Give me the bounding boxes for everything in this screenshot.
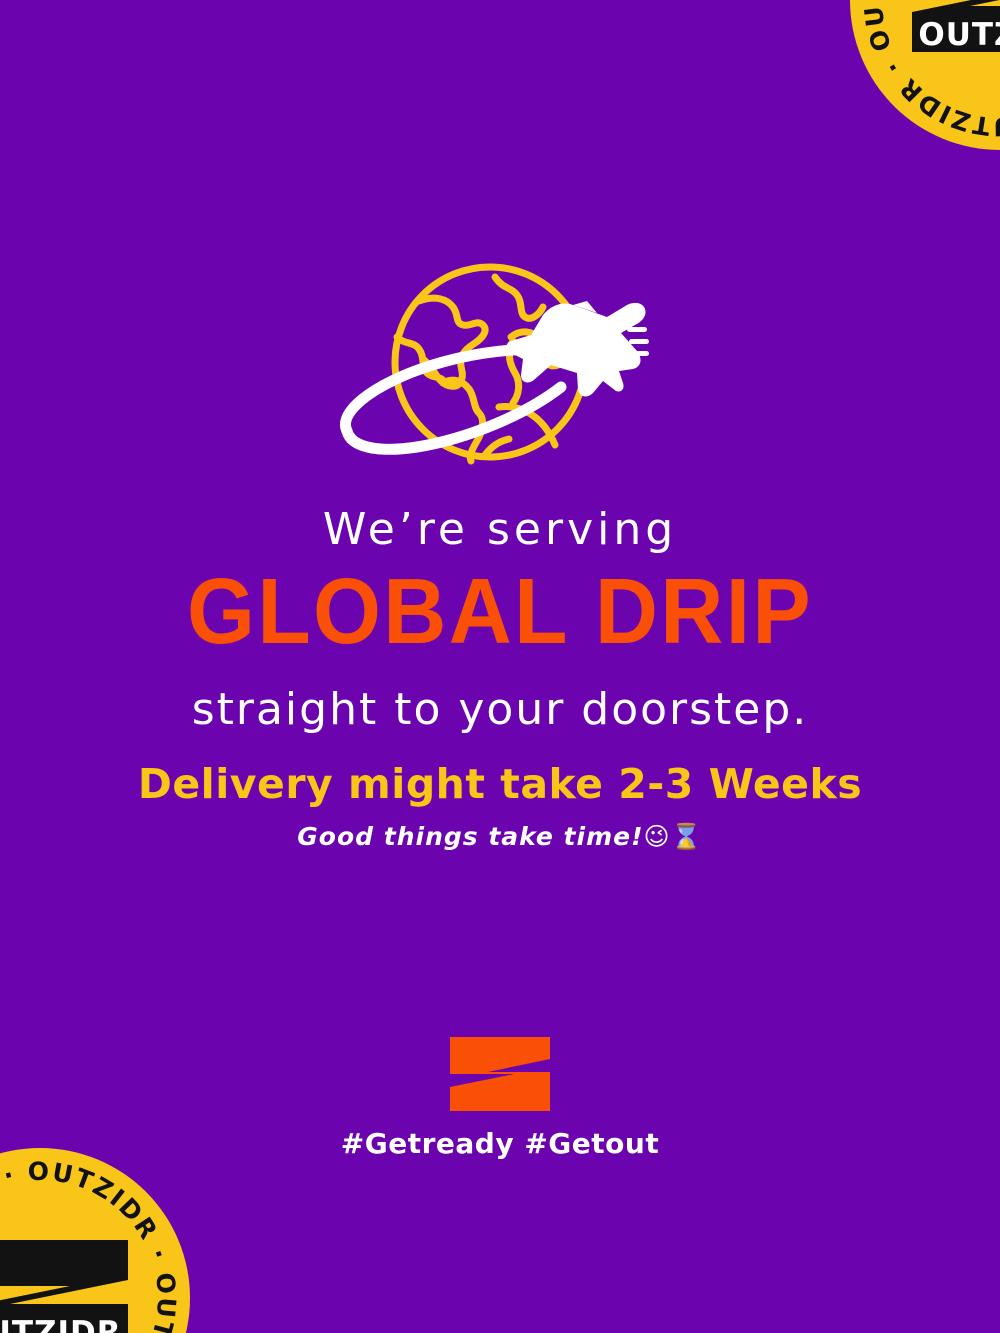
delivery-subtext: Good things take time!😉⌛ — [0, 822, 1000, 852]
headline-line-1: We’re serving — [0, 505, 1000, 556]
delivery-estimate-text: Delivery might take 2-3 Weeks — [0, 760, 1000, 808]
footer-block: #Getready #Getout — [0, 1035, 1000, 1160]
delivery-notice-block: Delivery might take 2-3 Weeks Good thing… — [0, 760, 1000, 852]
brand-badge-top-right: OUTZIDR · OUTZIDR · OUTZIDR · OUTZIDR · … — [850, 0, 1000, 150]
badge-wordmark: OUTZIDR — [918, 17, 1000, 53]
footer-hashtags: #Getready #Getout — [0, 1127, 1000, 1160]
outzidr-z-logo — [448, 1035, 552, 1113]
headline-block: We’re serving GLOBAL DRIP straight to yo… — [0, 505, 1000, 737]
poster-canvas: OUTZIDR · OUTZIDR · OUTZIDR · OUTZIDR · … — [0, 0, 1000, 1333]
headline-line-3: straight to your doorstep. — [0, 684, 1000, 737]
brand-badge-bottom-left: OUTZIDR · OUTZIDR · OUTZIDR · OUTZIDR · … — [0, 1148, 190, 1333]
winking-face-icon: 😉 — [644, 822, 671, 851]
orbit-trail-lower — [347, 387, 561, 449]
badge-wordmark: OUTZIDR — [0, 1315, 122, 1333]
hourglass-icon: ⌛ — [671, 822, 703, 851]
delivery-subtext-label: Good things take time! — [297, 822, 643, 851]
globe-airplane-illustration — [335, 255, 665, 470]
headline-line-2-global-drip: GLOBAL DRIP — [0, 554, 1000, 670]
